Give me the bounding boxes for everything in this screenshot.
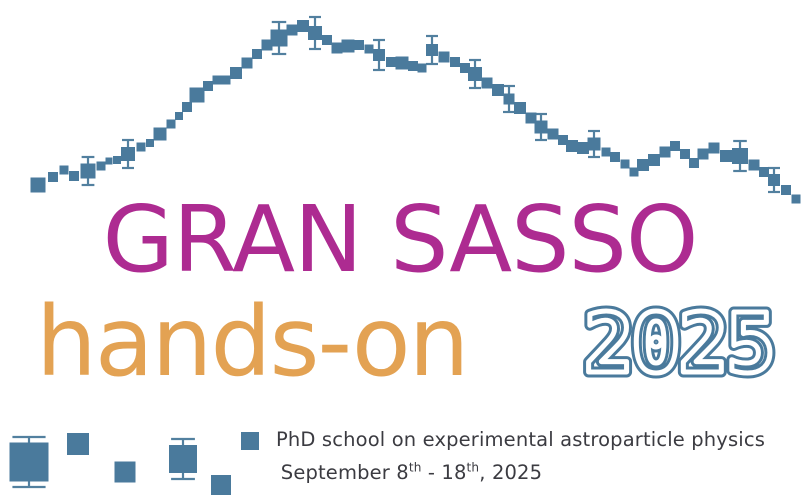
data-point-marker bbox=[660, 147, 671, 158]
data-point-marker bbox=[548, 129, 559, 140]
gran-sasso-text: GRAN SASSO bbox=[103, 192, 698, 292]
data-point-marker bbox=[322, 35, 332, 45]
data-point-marker bbox=[602, 148, 611, 157]
data-point-marker bbox=[732, 148, 748, 164]
data-point-marker bbox=[514, 102, 526, 114]
data-point-marker bbox=[354, 40, 364, 50]
data-point-marker bbox=[648, 154, 660, 166]
data-point-marker bbox=[610, 152, 620, 162]
poster-canvas: GRAN SASSO hands-on 2025 2025 PhD school… bbox=[0, 0, 801, 501]
data-point-marker bbox=[271, 30, 288, 47]
data-point-marker bbox=[680, 149, 690, 159]
year-2025-group: 2025 2025 bbox=[584, 297, 773, 392]
data-point-marker bbox=[167, 120, 176, 129]
data-point-marker bbox=[450, 57, 460, 67]
dateline-suffix: , 2025 bbox=[479, 461, 542, 484]
data-point-marker bbox=[408, 61, 418, 71]
data-point-marker bbox=[60, 166, 69, 175]
wordmark-line-gran-sasso: GRAN SASSO bbox=[0, 192, 801, 292]
data-point-marker bbox=[31, 178, 46, 193]
data-point-marker bbox=[342, 40, 355, 53]
gran-sasso-svg: GRAN SASSO bbox=[0, 192, 801, 292]
data-point-marker bbox=[468, 67, 482, 81]
data-point-marker bbox=[365, 45, 374, 54]
tagline-row: PhD school on experimental astroparticle… bbox=[0, 424, 801, 456]
tagline-block: PhD school on experimental astroparticle… bbox=[0, 424, 801, 496]
data-point-marker bbox=[222, 76, 231, 85]
data-point-marker bbox=[121, 147, 135, 161]
data-point-marker bbox=[566, 140, 578, 152]
data-point-marker bbox=[426, 44, 438, 56]
data-point-marker bbox=[69, 171, 79, 181]
data-point-marker bbox=[504, 94, 515, 105]
data-point-marker bbox=[97, 162, 106, 171]
data-point-marker bbox=[190, 88, 205, 103]
data-point-marker bbox=[146, 139, 154, 147]
data-point-marker bbox=[588, 138, 601, 151]
data-point-marker bbox=[759, 167, 769, 177]
square-marker-icon bbox=[241, 432, 259, 450]
data-point-marker bbox=[439, 52, 450, 63]
data-point-marker bbox=[332, 43, 343, 54]
dateline-middle: - 18 bbox=[422, 461, 467, 484]
data-point-marker bbox=[81, 164, 96, 179]
data-point-marker bbox=[287, 25, 298, 36]
dateline: September 8th - 18th, 2025 bbox=[0, 463, 801, 483]
data-point-marker bbox=[297, 20, 309, 32]
hands-on-text: hands-on bbox=[36, 292, 467, 398]
data-point-marker bbox=[749, 160, 760, 171]
dateline-prefix: September 8 bbox=[281, 461, 409, 484]
data-point-marker bbox=[242, 58, 253, 69]
tagline-text: PhD school on experimental astroparticle… bbox=[276, 430, 765, 450]
data-point-marker bbox=[535, 121, 548, 134]
year-2025-outline-inner: 2025 bbox=[584, 297, 773, 392]
data-point-marker bbox=[373, 49, 385, 61]
hands-on-2025-svg: hands-on 2025 2025 bbox=[0, 292, 801, 400]
data-point-marker bbox=[213, 76, 222, 85]
data-point-marker bbox=[182, 102, 192, 112]
data-point-marker bbox=[252, 49, 262, 59]
dateline-ordinal-second: th bbox=[467, 461, 480, 475]
data-point-marker bbox=[203, 81, 213, 91]
data-point-marker bbox=[492, 84, 504, 96]
data-point-marker bbox=[230, 67, 242, 79]
data-point-marker bbox=[113, 156, 121, 164]
mountain-skyline-chart bbox=[0, 0, 801, 215]
data-point-marker bbox=[670, 141, 680, 151]
mountain-skyline-svg bbox=[0, 0, 801, 215]
data-point-marker bbox=[106, 158, 113, 165]
data-point-marker bbox=[308, 26, 322, 40]
data-point-marker bbox=[698, 149, 709, 160]
wordmark-line-hands-on-2025: hands-on 2025 2025 bbox=[0, 292, 801, 400]
data-point-marker bbox=[577, 142, 589, 154]
data-point-marker bbox=[621, 160, 630, 169]
dateline-ordinal-first: th bbox=[409, 461, 422, 475]
data-point-marker bbox=[386, 57, 396, 67]
data-point-marker bbox=[418, 64, 427, 73]
data-point-marker bbox=[720, 150, 732, 162]
data-point-marker bbox=[175, 112, 183, 120]
data-point-marker bbox=[396, 57, 409, 70]
data-point-marker bbox=[137, 143, 146, 152]
data-point-marker bbox=[709, 143, 720, 154]
data-point-marker bbox=[482, 78, 493, 89]
mountain-marker-group bbox=[31, 20, 801, 204]
data-point-marker bbox=[154, 128, 167, 141]
data-point-marker bbox=[768, 174, 780, 186]
data-point-marker bbox=[637, 159, 649, 171]
data-point-marker bbox=[48, 172, 58, 182]
